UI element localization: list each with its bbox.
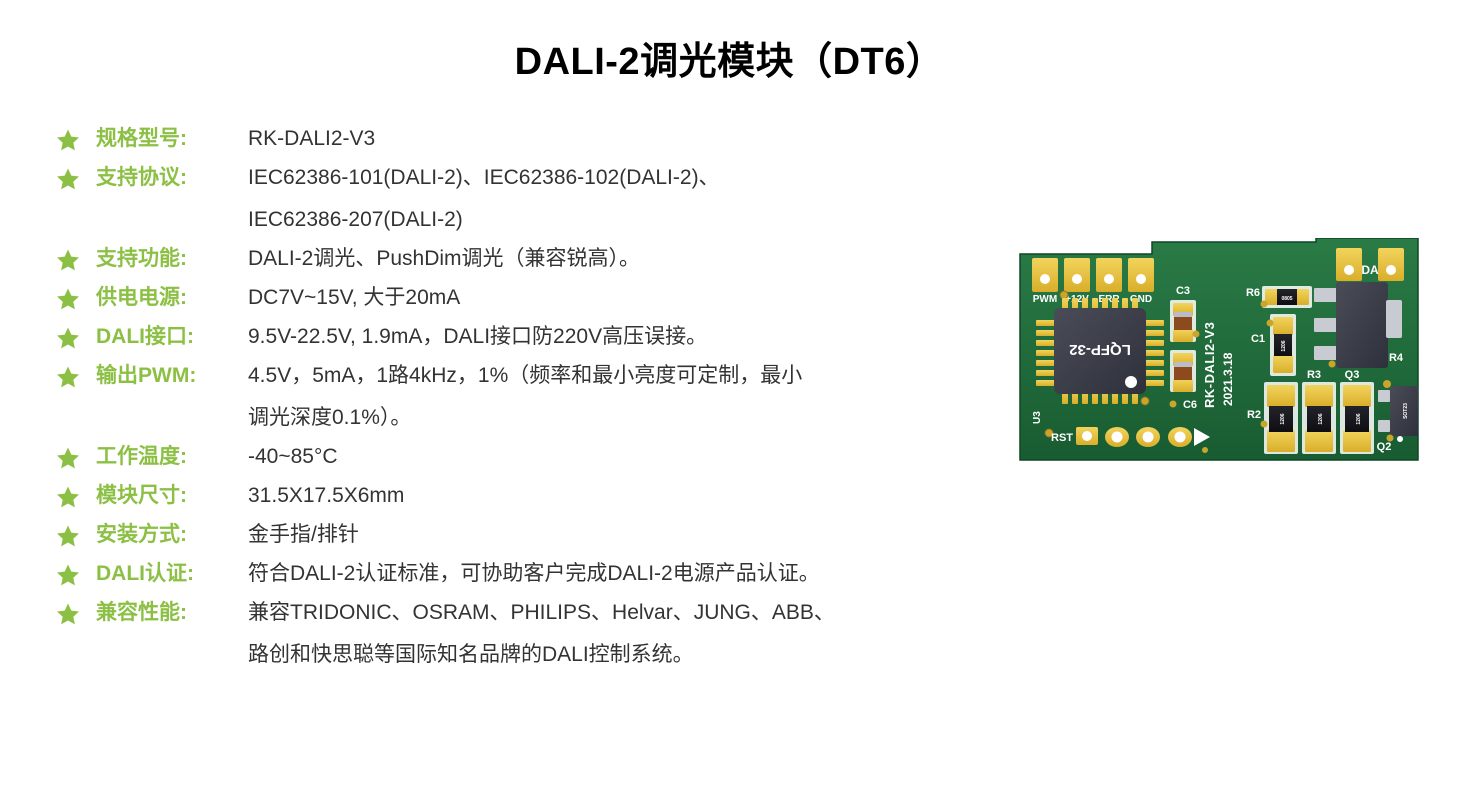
spec-value-line: IEC62386-101(DALI-2)、IEC62386-102(DALI-2… xyxy=(248,163,996,193)
star-bullet xyxy=(56,361,96,389)
component-label-q3: R4 xyxy=(1389,352,1404,364)
spec-value-line: 9.5V-22.5V, 1.9mA，DALI接口防220V高压误接。 xyxy=(248,322,996,352)
pcb-illustration: PWM +12V ERR GND DA xyxy=(1018,238,1420,462)
spec-label: 工作温度: xyxy=(96,442,248,472)
spec-value: 金手指/排针 xyxy=(248,520,996,550)
star-icon xyxy=(56,563,80,587)
spec-label: 模块尺寸: xyxy=(96,481,248,511)
lqfp32-chip: LQFP-32 xyxy=(1036,298,1164,404)
component-label-r2: Q3 xyxy=(1345,369,1360,381)
part-code-1206-c1: 1206 xyxy=(1281,340,1287,351)
spec-row: 供电电源: DC7V~15V, 大于20mA xyxy=(56,283,996,313)
star-bullet xyxy=(56,322,96,350)
spec-row: DALI接口: 9.5V-22.5V, 1.9mA，DALI接口防220V高压误… xyxy=(56,322,996,352)
spec-label: DALI认证: xyxy=(96,559,248,589)
spec-label: 兼容性能: xyxy=(96,598,248,628)
spec-label: DALI接口: xyxy=(96,322,248,352)
chip-label-lqfp32: LQFP-32 xyxy=(1069,341,1131,358)
page-title: DALI-2调光模块（DT6） xyxy=(0,30,1459,85)
spec-label: 规格型号: xyxy=(96,124,248,154)
spec-label: 输出PWM: xyxy=(96,361,248,391)
star-icon xyxy=(56,524,80,548)
spec-value: RK-DALI2-V3 xyxy=(248,124,996,154)
star-bullet xyxy=(56,481,96,509)
spec-value-line: 31.5X17.5X6mm xyxy=(248,481,996,511)
spec-row: DALI认证: 符合DALI-2认证标准，可协助客户完成DALI-2电源产品认证… xyxy=(56,559,996,589)
star-icon xyxy=(56,446,80,470)
spec-row: 兼容性能: 兼容TRIDONIC、OSRAM、PHILIPS、Helvar、JU… xyxy=(56,598,996,670)
spec-value-line: IEC62386-207(DALI-2) xyxy=(248,205,996,235)
spec-value: DALI-2调光、PushDim调光（兼容锐高）。 xyxy=(248,244,996,274)
spec-value: -40~85°C xyxy=(248,442,996,472)
component-label-c6: C6 xyxy=(1183,399,1197,411)
pcb-board-photo: PWM +12V ERR GND DA xyxy=(1018,238,1420,462)
star-icon xyxy=(56,167,80,191)
part-code-1206-r2: 1206 xyxy=(1356,413,1362,424)
spec-value-line: -40~85°C xyxy=(248,442,996,472)
part-code-1206-r3: 1206 xyxy=(1318,413,1324,424)
spec-value-line: RK-DALI2-V3 xyxy=(248,124,996,154)
spec-value-line: 调光深度0.1%）。 xyxy=(248,403,996,433)
star-bullet xyxy=(56,244,96,272)
spec-value: 兼容TRIDONIC、OSRAM、PHILIPS、Helvar、JUNG、ABB… xyxy=(248,598,996,670)
star-icon xyxy=(56,602,80,626)
star-bullet xyxy=(56,283,96,311)
spec-row: 输出PWM: 4.5V，5mA，1路4kHz，1%（频率和最小亮度可定制，最小 … xyxy=(56,361,996,433)
spec-row: 安装方式: 金手指/排针 xyxy=(56,520,996,550)
spec-label: 供电电源: xyxy=(96,283,248,313)
star-bullet xyxy=(56,163,96,191)
component-label-r6: R6 xyxy=(1246,287,1260,299)
spec-value-line: 4.5V，5mA，1路4kHz，1%（频率和最小亮度可定制，最小 xyxy=(248,361,996,391)
component-label-c1: C1 xyxy=(1251,333,1265,345)
star-bullet xyxy=(56,559,96,587)
component-label-c3: C3 xyxy=(1176,285,1190,297)
part-code-0805: 0805 xyxy=(1281,296,1292,302)
spec-value-line: 兼容TRIDONIC、OSRAM、PHILIPS、Helvar、JUNG、ABB… xyxy=(248,598,996,628)
star-icon xyxy=(56,485,80,509)
spec-value-line: 路创和快思聪等国际知名品牌的DALI控制系统。 xyxy=(248,640,996,670)
spec-value-line: 金手指/排针 xyxy=(248,520,996,550)
star-bullet xyxy=(56,598,96,626)
component-label-r4: R2 xyxy=(1247,409,1261,421)
spec-row: 模块尺寸: 31.5X17.5X6mm xyxy=(56,481,996,511)
spec-value: IEC62386-101(DALI-2)、IEC62386-102(DALI-2… xyxy=(248,163,996,235)
spec-value: DC7V~15V, 大于20mA xyxy=(248,283,996,313)
component-c6: C6 xyxy=(1170,350,1198,411)
spec-value-line: DC7V~15V, 大于20mA xyxy=(248,283,996,313)
spec-value: 9.5V-22.5V, 1.9mA，DALI接口防220V高压误接。 xyxy=(248,322,996,352)
part-code-1206-r4: 1206 xyxy=(1280,413,1286,424)
part-code-sot23: SOT23 xyxy=(1403,403,1409,419)
pad-label-da: DA xyxy=(1361,263,1379,277)
star-icon xyxy=(56,128,80,152)
star-bullet xyxy=(56,124,96,152)
spec-value-line: 符合DALI-2认证标准，可协助客户完成DALI-2电源产品认证。 xyxy=(248,559,996,589)
reset-label: RST xyxy=(1051,432,1073,444)
spec-label: 支持功能: xyxy=(96,244,248,274)
spec-row: 工作温度: -40~85°C xyxy=(56,442,996,472)
spec-value: 4.5V，5mA，1路4kHz，1%（频率和最小亮度可定制，最小 调光深度0.1… xyxy=(248,361,996,433)
board-name-silkscreen: RK-DALI2-V3 xyxy=(1202,322,1217,408)
spec-row: 支持协议: IEC62386-101(DALI-2)、IEC62386-102(… xyxy=(56,163,996,235)
pad-label-pwm: PWM xyxy=(1033,294,1057,305)
star-icon xyxy=(56,326,80,350)
spec-row: 规格型号: RK-DALI2-V3 xyxy=(56,124,996,154)
board-date-silkscreen: 2021.3.18 xyxy=(1221,352,1235,406)
specification-list: 规格型号: RK-DALI2-V3 支持协议: IEC62386-101(DAL… xyxy=(56,124,996,679)
star-icon xyxy=(56,287,80,311)
spec-value-line: DALI-2调光、PushDim调光（兼容锐高）。 xyxy=(248,244,996,274)
star-bullet xyxy=(56,442,96,470)
spec-label: 安装方式: xyxy=(96,520,248,550)
spec-label: 支持协议: xyxy=(96,163,248,193)
star-icon xyxy=(56,365,80,389)
spec-row: 支持功能: DALI-2调光、PushDim调光（兼容锐高）。 xyxy=(56,244,996,274)
star-bullet xyxy=(56,520,96,548)
chip-ref-u3: U3 xyxy=(1032,411,1043,424)
spec-value: 符合DALI-2认证标准，可协助客户完成DALI-2电源产品认证。 xyxy=(248,559,996,589)
star-icon xyxy=(56,248,80,272)
spec-value: 31.5X17.5X6mm xyxy=(248,481,996,511)
component-label-r3: R3 xyxy=(1307,369,1321,381)
component-label-q2: Q2 xyxy=(1377,441,1392,453)
